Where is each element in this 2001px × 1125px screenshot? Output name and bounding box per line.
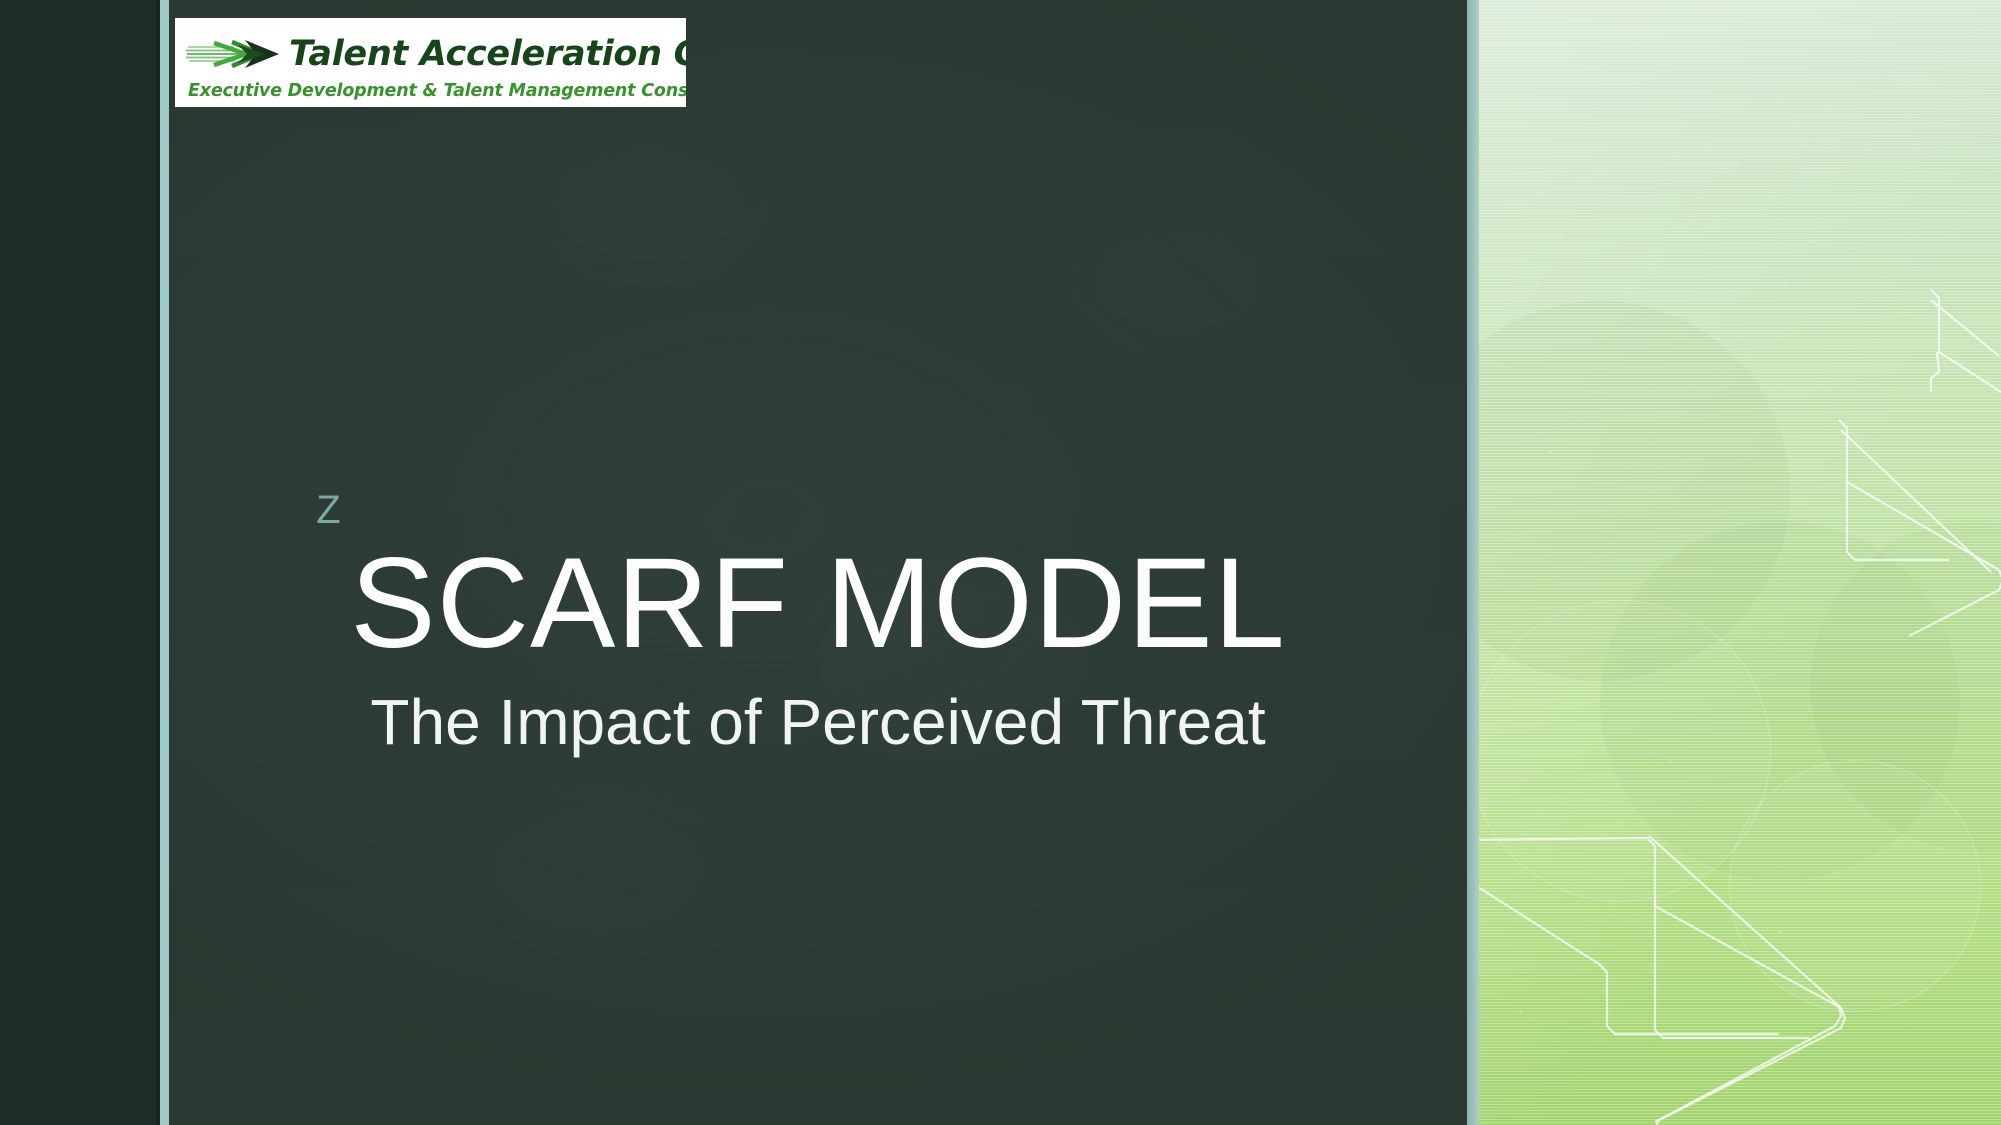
decorative-speck <box>1519 1010 1522 1013</box>
title-marker: Z <box>316 490 340 530</box>
background-blob <box>529 120 769 290</box>
left-accent-rule <box>160 0 169 1125</box>
decorative-circle <box>1479 300 1791 682</box>
decorative-speck <box>1809 240 1812 243</box>
panel-divider <box>1467 0 1479 1125</box>
decorative-green-panel <box>1479 0 2001 1125</box>
decorative-circle <box>1599 520 1961 882</box>
company-logo: Talent Acceleration Group Executive Deve… <box>175 18 686 107</box>
background-blob <box>1069 200 1289 360</box>
green-panel-sheen <box>1479 0 2001 1125</box>
logo-wordmark: Talent Acceleration Group <box>289 37 686 72</box>
slide-subtitle: The Impact of Perceived Threat <box>169 690 1467 754</box>
decorative-circle <box>1479 600 1771 902</box>
presentation-slide: Talent Acceleration Group Executive Deve… <box>0 0 2001 1125</box>
green-panel-scanlines <box>1479 0 2001 1125</box>
decorative-circle <box>1809 520 2001 852</box>
decorative-circle <box>1729 760 1981 1012</box>
left-margin-strip <box>0 0 160 1125</box>
background-blob <box>469 780 729 960</box>
logo-tagline: Executive Development & Talent Managemen… <box>188 83 686 101</box>
logo-primary-row: Talent Acceleration Group <box>186 34 686 74</box>
decorative-speck <box>1779 930 1782 933</box>
slide-title: SCARF MODEL <box>350 540 1286 668</box>
chevron-outline-icon <box>1479 0 2001 1125</box>
title-block: Z SCARF MODEL The Impact of Perceived Th… <box>169 540 1467 754</box>
decorative-speck <box>1549 450 1552 453</box>
speed-arrow-icon <box>186 34 279 74</box>
decorative-speck <box>1669 760 1672 763</box>
title-wrapper: Z SCARF MODEL <box>350 540 1286 668</box>
